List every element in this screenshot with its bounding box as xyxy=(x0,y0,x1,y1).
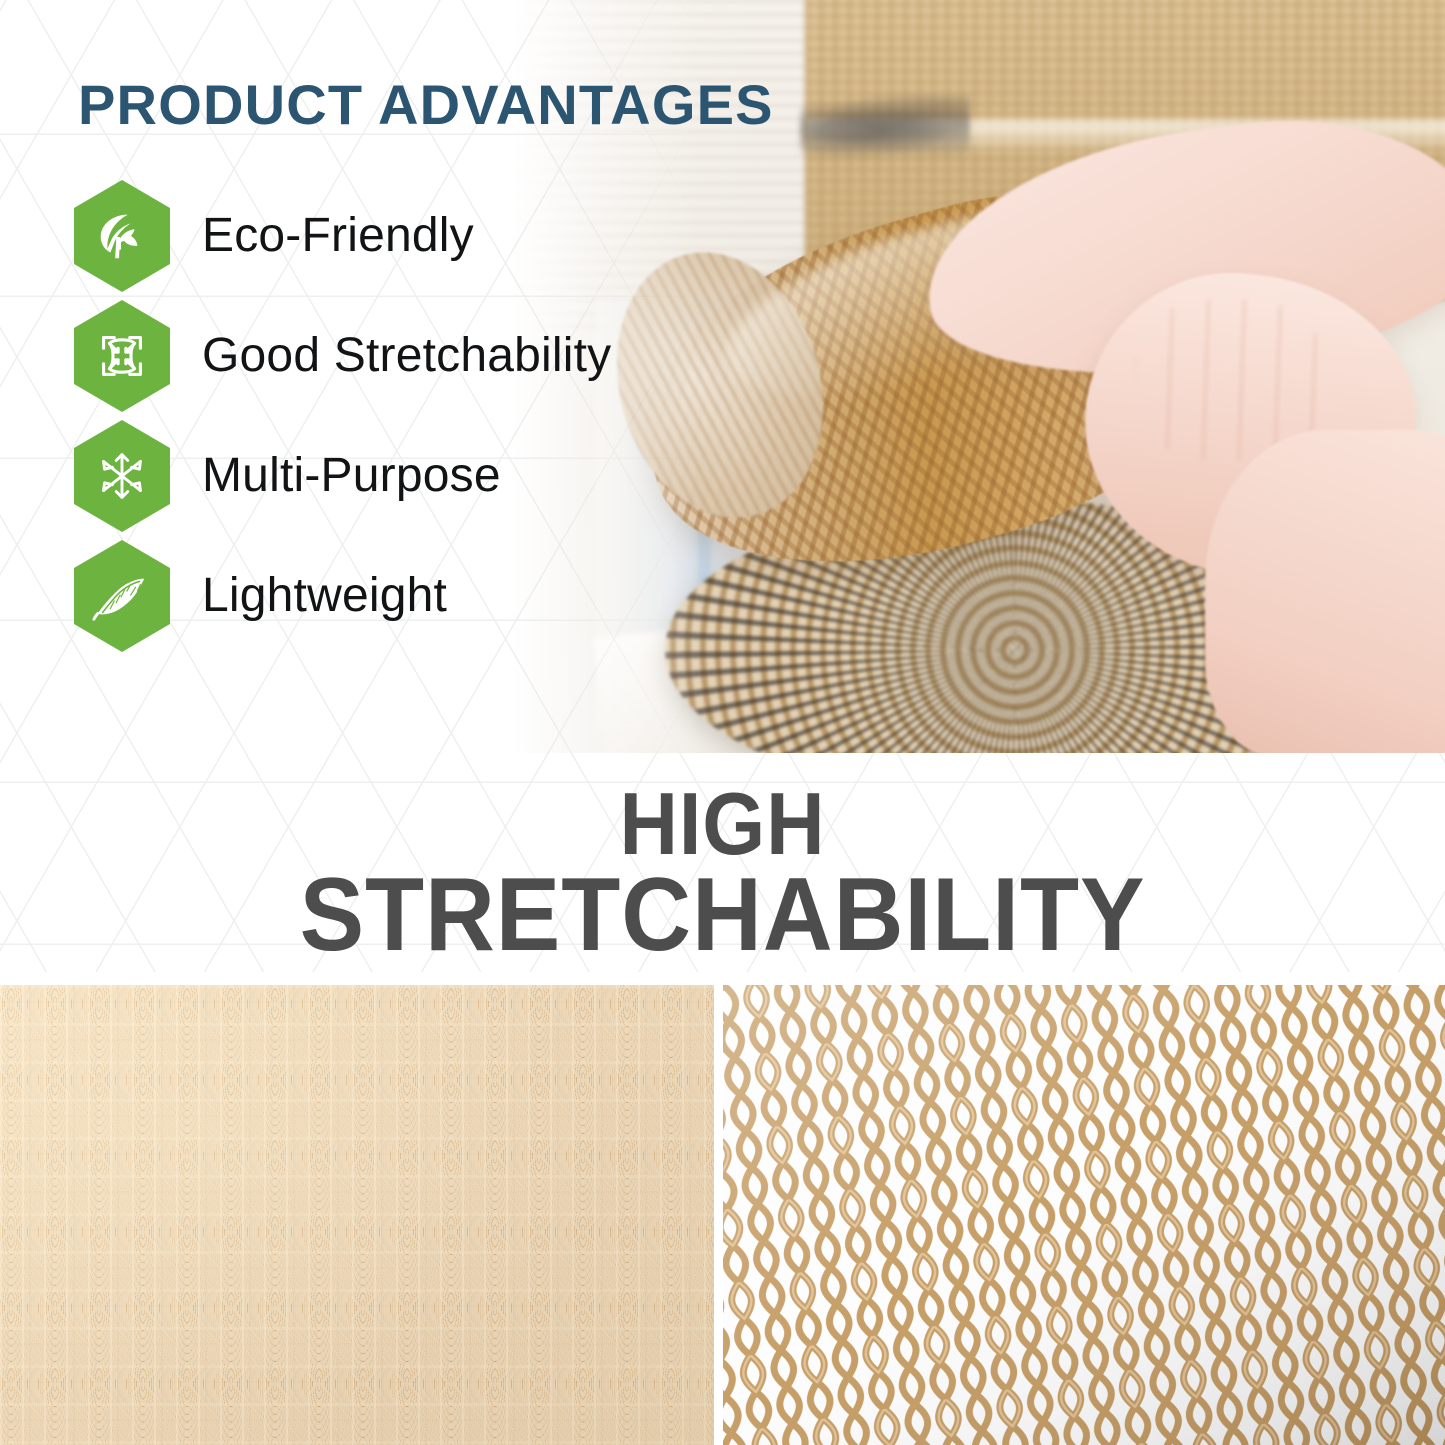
feather-icon xyxy=(74,540,170,652)
panel-top-gap xyxy=(0,972,1445,986)
feature-row-eco-friendly: Eco-Friendly xyxy=(74,176,794,296)
feature-label: Good Stretchability xyxy=(202,332,611,380)
feature-list: Eco-Friendly Good Stretchability xyxy=(74,176,794,656)
page-title: PRODUCT ADVANTAGES xyxy=(78,72,774,137)
subtitle-line-2: STRETCHABILITY xyxy=(51,866,1395,965)
leaf-icon xyxy=(74,180,170,292)
kraft-texture-shading xyxy=(0,985,714,1445)
stretched-paper-photo xyxy=(723,985,1445,1445)
mesh-texture xyxy=(723,985,1445,1445)
feature-label: Lightweight xyxy=(202,572,447,620)
product-advantages-infographic: PRODUCT ADVANTAGES Eco-Friendly xyxy=(0,0,1445,1445)
multi-direction-arrows-icon xyxy=(74,420,170,532)
photo-forearm xyxy=(1205,430,1445,753)
photo-background-objects xyxy=(800,95,970,165)
expand-arrows-icon xyxy=(74,300,170,412)
feature-row-good-stretchability: Good Stretchability xyxy=(74,296,794,416)
unstretched-paper-photo xyxy=(0,985,714,1445)
feature-row-multi-purpose: Multi-Purpose xyxy=(74,416,794,536)
feature-row-lightweight: Lightweight xyxy=(74,536,794,656)
section-subtitle: HIGH STRETCHABILITY xyxy=(0,782,1445,964)
subtitle-line-1: HIGH xyxy=(58,782,1387,866)
feature-label: Eco-Friendly xyxy=(202,212,474,260)
feature-label: Multi-Purpose xyxy=(202,452,501,500)
panel-divider xyxy=(714,985,723,1445)
